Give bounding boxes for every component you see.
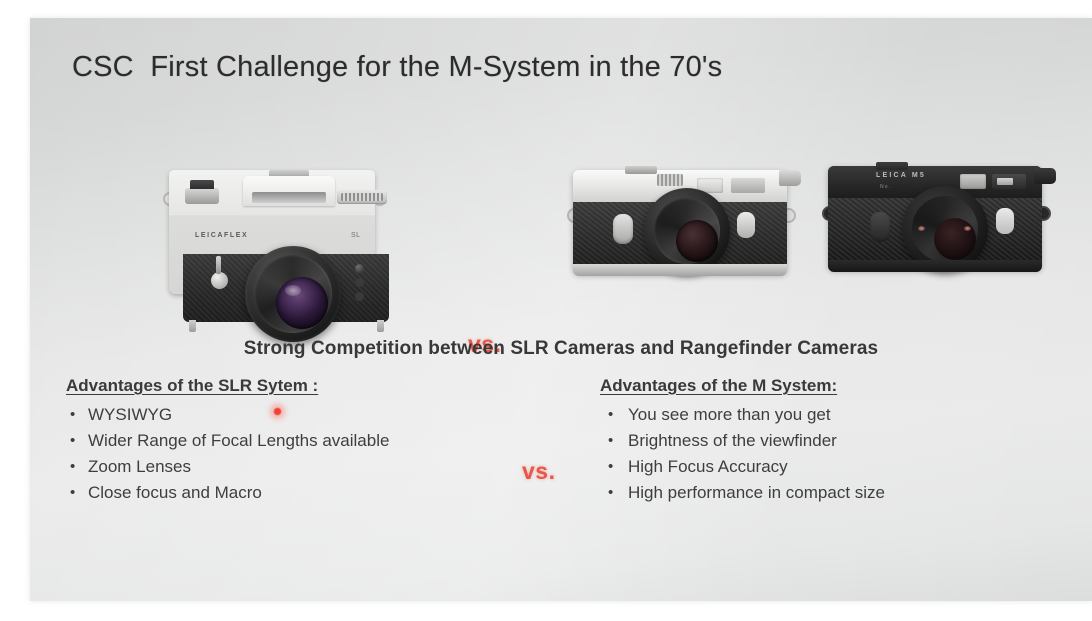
vs-marker-lists: vs. (522, 458, 555, 485)
rangefinder-base-plate (828, 260, 1042, 272)
m-system-advantages-heading: Advantages of the M System: (600, 376, 1040, 396)
rangefinder-base-plate (573, 264, 787, 276)
rewind-knob-icon (185, 188, 219, 204)
slr-camera-body: LEICAFLEX SL (169, 170, 375, 294)
m-system-advantages-list: You see more than you get Brightness of … (600, 402, 1040, 506)
slr-advantages-heading: Advantages of the SLR Sytem : (66, 376, 496, 396)
camera-engraving-text: LEICA M5 (876, 172, 926, 179)
list-item: You see more than you get (600, 402, 1040, 428)
self-timer-lever-icon (211, 272, 228, 289)
frame-selector-lever-icon (737, 212, 755, 238)
lens-reflection-dot (918, 226, 925, 231)
slr-lens-highlight (285, 285, 301, 296)
slide-title: CSC First Challenge for the M-System in … (72, 51, 722, 84)
slr-lens-barrel (245, 246, 341, 342)
film-advance-lever-icon (779, 170, 801, 186)
film-advance-lever-icon (1034, 168, 1056, 184)
focus-grip-icon (870, 212, 890, 242)
camera-engraving-subtext: No. (880, 184, 891, 190)
m-system-advantages-column: Advantages of the M System: You see more… (600, 376, 1040, 506)
list-item: High performance in compact size (600, 480, 1040, 506)
rangefinder-lens-glass (676, 220, 718, 262)
front-buttons-icon (355, 264, 364, 273)
lens-reflection-dot (964, 226, 971, 231)
film-advance-lever-icon (337, 190, 387, 204)
rangefinder-lens-ring (912, 196, 978, 262)
laser-pointer-dot (273, 407, 282, 416)
rangefinder-lens-glass (934, 218, 976, 260)
presentation-slide: CSC First Challenge for the M-System in … (30, 18, 1092, 601)
rangefinder-window-icon (731, 178, 765, 193)
list-item: Close focus and Macro (66, 480, 496, 506)
hot-shoe-icon (625, 166, 657, 174)
slr-advantages-column: Advantages of the SLR Sytem : WYSIWYG Wi… (66, 376, 496, 506)
tripod-foot-left (189, 320, 196, 332)
frame-selector-lever-icon (996, 208, 1014, 234)
rangefinder-window-icon (992, 174, 1026, 189)
slide-subtitle: Strong Competition between SLR Cameras a… (140, 338, 982, 360)
pentaprism-hump (243, 176, 335, 206)
hot-shoe-icon (876, 162, 908, 170)
viewfinder-window-icon (960, 174, 986, 189)
list-item: Zoom Lenses (66, 454, 496, 480)
list-item: High Focus Accuracy (600, 454, 1040, 480)
slr-advantages-list: WYSIWYG Wider Range of Focal Lengths ava… (66, 402, 496, 506)
slr-brand-text: LEICAFLEX (195, 232, 248, 239)
silver-rangefinder-camera-image (565, 152, 799, 308)
camera-comparison-row: LEICAFLEX SL vs. (30, 128, 1092, 318)
slr-model-mark: SL (351, 232, 361, 239)
slr-camera-image: LEICAFLEX SL (155, 142, 389, 314)
tripod-foot-right (377, 320, 384, 332)
list-item: WYSIWYG (66, 402, 496, 428)
black-rangefinder-camera-image: LEICA M5 No. (820, 148, 1054, 308)
list-item: Wider Range of Focal Lengths available (66, 428, 496, 454)
shutter-speed-dial-icon (657, 174, 683, 186)
rangefinder-lens-ring (654, 198, 720, 264)
rangefinder-lens-barrel (644, 188, 730, 274)
slr-lens-glass (276, 277, 328, 329)
focus-grip-icon (613, 214, 633, 244)
slr-lens-focus-ring (254, 255, 332, 333)
list-item: Brightness of the viewfinder (600, 428, 1040, 454)
